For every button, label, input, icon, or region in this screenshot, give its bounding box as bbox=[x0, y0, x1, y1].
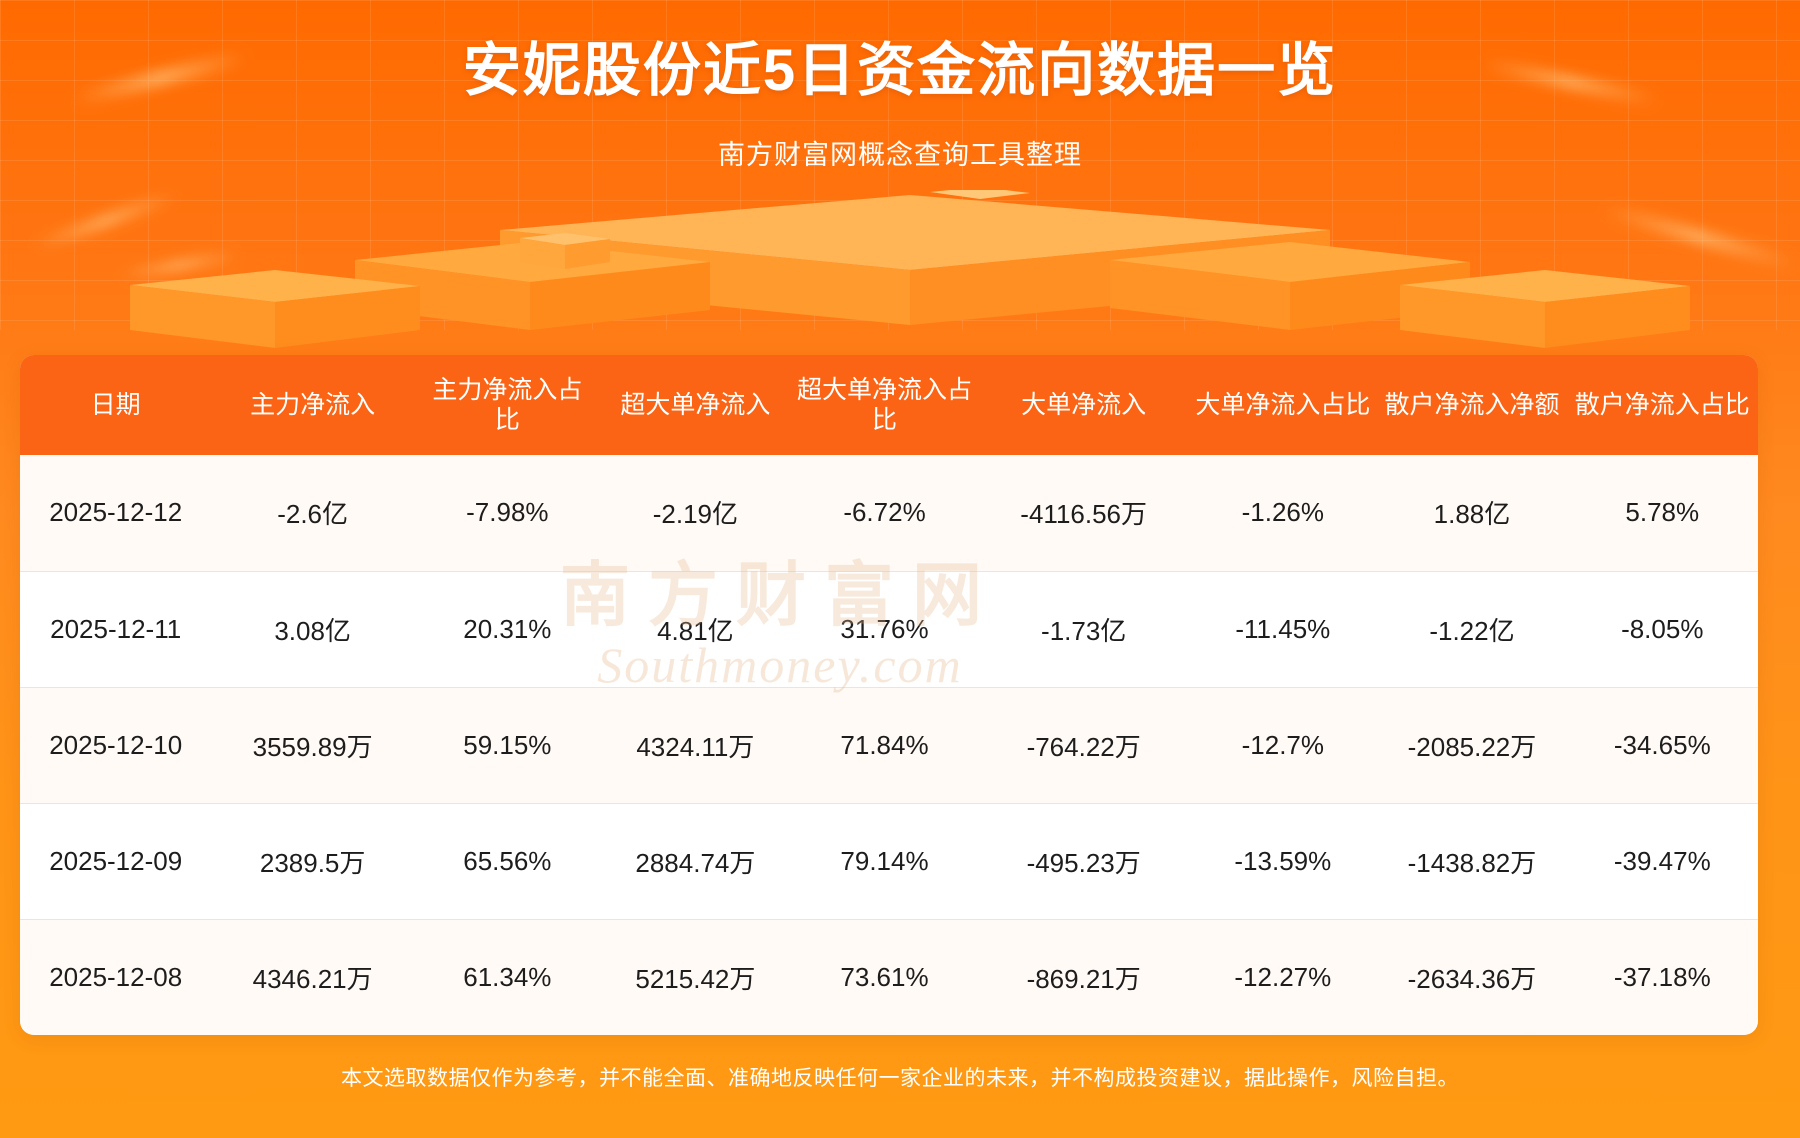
table-row: 2025-12-10 3559.89万 59.15% 4324.11万 71.8… bbox=[20, 687, 1758, 803]
cell-main-net: 3.08亿 bbox=[211, 571, 414, 687]
cell-date: 2025-12-10 bbox=[20, 687, 211, 803]
table-body: 2025-12-12 -2.6亿 -7.98% -2.19亿 -6.72% -4… bbox=[20, 455, 1758, 1035]
page-subtitle: 南方财富网概念查询工具整理 bbox=[0, 133, 1800, 172]
cell-xl-net: -2.19亿 bbox=[601, 455, 790, 571]
cell-date: 2025-12-11 bbox=[20, 571, 211, 687]
table-row: 2025-12-08 4346.21万 61.34% 5215.42万 73.6… bbox=[20, 919, 1758, 1035]
table-head: 日期 主力净流入 主力净流入占比 超大单净流入 超大单净流入占比 大单净流入 大… bbox=[20, 355, 1758, 455]
cell-lg-net: -1.73亿 bbox=[979, 571, 1188, 687]
col-header-retail-pct: 散户净流入占比 bbox=[1567, 355, 1758, 455]
cell-lg-pct: -1.26% bbox=[1188, 455, 1377, 571]
cell-xl-net: 4.81亿 bbox=[601, 571, 790, 687]
fund-flow-card: 日期 主力净流入 主力净流入占比 超大单净流入 超大单净流入占比 大单净流入 大… bbox=[20, 355, 1758, 1035]
page-title: 安妮股份近5日资金流向数据一览 bbox=[0, 38, 1800, 105]
cell-lg-pct: -12.27% bbox=[1188, 919, 1377, 1035]
col-header-date: 日期 bbox=[20, 355, 211, 455]
cell-lg-net: -4116.56万 bbox=[979, 455, 1188, 571]
cell-retail-pct: -34.65% bbox=[1567, 687, 1758, 803]
cell-date: 2025-12-08 bbox=[20, 919, 211, 1035]
cell-lg-pct: -11.45% bbox=[1188, 571, 1377, 687]
cell-xl-net: 4324.11万 bbox=[601, 687, 790, 803]
cell-xl-pct: 79.14% bbox=[790, 803, 979, 919]
cell-xl-pct: 71.84% bbox=[790, 687, 979, 803]
col-header-main-net: 主力净流入 bbox=[211, 355, 414, 455]
cell-retail-net: -2085.22万 bbox=[1377, 687, 1566, 803]
col-header-retail-net: 散户净流入净额 bbox=[1377, 355, 1566, 455]
cell-retail-net: -1438.82万 bbox=[1377, 803, 1566, 919]
col-header-lg-pct: 大单净流入占比 bbox=[1188, 355, 1377, 455]
cell-xl-pct: 73.61% bbox=[790, 919, 979, 1035]
cell-lg-pct: -12.7% bbox=[1188, 687, 1377, 803]
col-header-main-pct: 主力净流入占比 bbox=[414, 355, 601, 455]
col-header-xl-net: 超大单净流入 bbox=[601, 355, 790, 455]
cell-main-pct: -7.98% bbox=[414, 455, 601, 571]
cell-xl-pct: -6.72% bbox=[790, 455, 979, 571]
page-header: 安妮股份近5日资金流向数据一览 南方财富网概念查询工具整理 bbox=[0, 0, 1800, 172]
cell-lg-pct: -13.59% bbox=[1188, 803, 1377, 919]
cell-main-pct: 65.56% bbox=[414, 803, 601, 919]
cell-retail-pct: -37.18% bbox=[1567, 919, 1758, 1035]
cell-main-pct: 59.15% bbox=[414, 687, 601, 803]
cell-main-net: -2.6亿 bbox=[211, 455, 414, 571]
table-row: 2025-12-11 3.08亿 20.31% 4.81亿 31.76% -1.… bbox=[20, 571, 1758, 687]
cell-retail-pct: 5.78% bbox=[1567, 455, 1758, 571]
cell-main-net: 4346.21万 bbox=[211, 919, 414, 1035]
fund-flow-table: 日期 主力净流入 主力净流入占比 超大单净流入 超大单净流入占比 大单净流入 大… bbox=[20, 355, 1758, 1035]
cell-main-pct: 20.31% bbox=[414, 571, 601, 687]
cell-lg-net: -764.22万 bbox=[979, 687, 1188, 803]
col-header-xl-pct: 超大单净流入占比 bbox=[790, 355, 979, 455]
table-row: 2025-12-12 -2.6亿 -7.98% -2.19亿 -6.72% -4… bbox=[20, 455, 1758, 571]
cell-lg-net: -869.21万 bbox=[979, 919, 1188, 1035]
cell-date: 2025-12-12 bbox=[20, 455, 211, 571]
cell-main-net: 2389.5万 bbox=[211, 803, 414, 919]
cell-main-pct: 61.34% bbox=[414, 919, 601, 1035]
cell-retail-net: 1.88亿 bbox=[1377, 455, 1566, 571]
cell-xl-net: 5215.42万 bbox=[601, 919, 790, 1035]
cell-xl-net: 2884.74万 bbox=[601, 803, 790, 919]
cell-date: 2025-12-09 bbox=[20, 803, 211, 919]
table-row: 2025-12-09 2389.5万 65.56% 2884.74万 79.14… bbox=[20, 803, 1758, 919]
table-header-row: 日期 主力净流入 主力净流入占比 超大单净流入 超大单净流入占比 大单净流入 大… bbox=[20, 355, 1758, 455]
cell-lg-net: -495.23万 bbox=[979, 803, 1188, 919]
cell-retail-net: -1.22亿 bbox=[1377, 571, 1566, 687]
col-header-lg-net: 大单净流入 bbox=[979, 355, 1188, 455]
cell-retail-pct: -39.47% bbox=[1567, 803, 1758, 919]
footer-disclaimer: 本文选取数据仅作为参考，并不能全面、准确地反映任何一家企业的未来，并不构成投资建… bbox=[0, 1062, 1800, 1092]
cell-xl-pct: 31.76% bbox=[790, 571, 979, 687]
cell-retail-net: -2634.36万 bbox=[1377, 919, 1566, 1035]
cell-main-net: 3559.89万 bbox=[211, 687, 414, 803]
cell-retail-pct: -8.05% bbox=[1567, 571, 1758, 687]
